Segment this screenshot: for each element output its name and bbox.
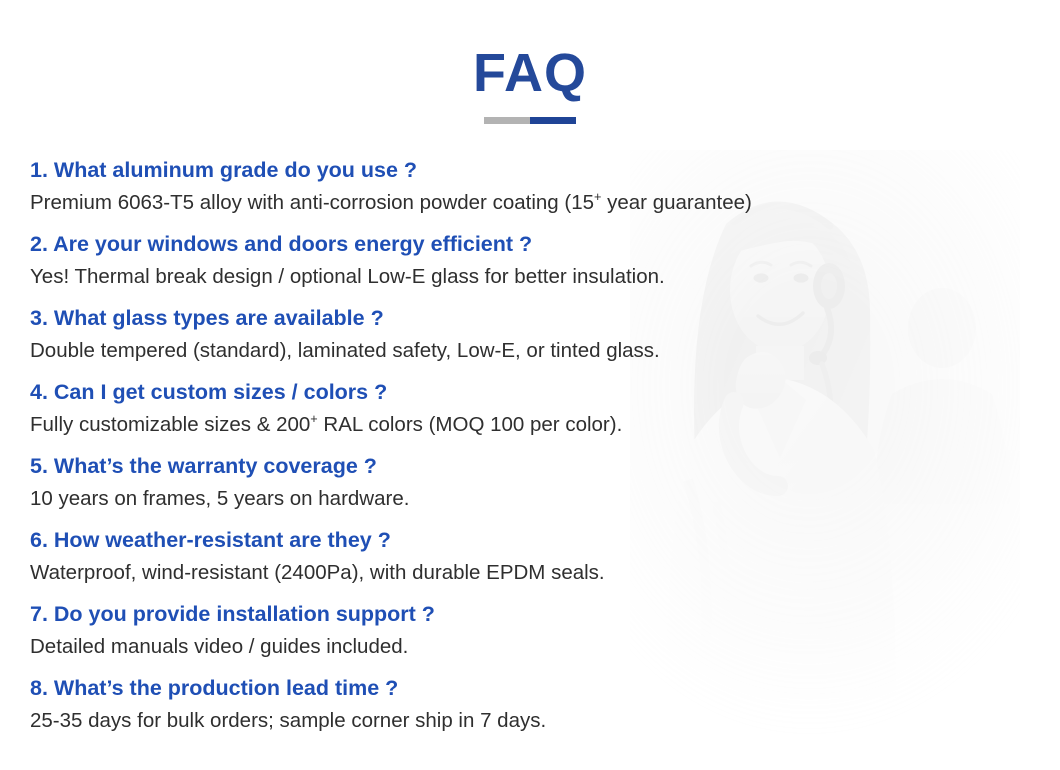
faq-question: 2. Are your windows and doors energy eff… (30, 234, 990, 267)
faq-answer: 25-35 days for bulk orders; sample corne… (30, 711, 990, 753)
faq-answer-text: Detailed manuals video / guides included… (30, 635, 408, 658)
faq-question: 7. Do you provide installation support ? (30, 604, 990, 637)
faq-header: FAQ (0, 46, 1060, 124)
faq-answer-text-tail: RAL colors (MOQ 100 per color). (318, 413, 623, 436)
faq-item: 8. What’s the production lead time ? 25-… (30, 678, 990, 752)
title-divider-left-segment (484, 117, 530, 124)
faq-answer-text: 25-35 days for bulk orders; sample corne… (30, 709, 546, 732)
faq-item: 2. Are your windows and doors energy eff… (30, 234, 990, 308)
faq-item: 5. What’s the warranty coverage ? 10 yea… (30, 456, 990, 530)
faq-answer: 10 years on frames, 5 years on hardware. (30, 489, 990, 531)
faq-list: 1. What aluminum grade do you use ? Prem… (30, 160, 990, 752)
faq-answer: Yes! Thermal break design / optional Low… (30, 267, 990, 309)
faq-answer: Premium 6063-T5 alloy with anti-corrosio… (30, 193, 990, 235)
superscript-plus: + (310, 411, 317, 426)
faq-item: 7. Do you provide installation support ?… (30, 604, 990, 678)
faq-question: 8. What’s the production lead time ? (30, 678, 990, 711)
faq-answer: Detailed manuals video / guides included… (30, 637, 990, 679)
faq-answer: Waterproof, wind-resistant (2400Pa), wit… (30, 563, 990, 605)
faq-question: 1. What aluminum grade do you use ? (30, 160, 990, 193)
page-title: FAQ (0, 46, 1060, 100)
faq-page: FAQ 1. What aluminum grade do you use ? … (0, 0, 1060, 770)
faq-answer-text-tail: year guarantee) (601, 191, 751, 214)
faq-answer-text: Fully customizable sizes & 200 (30, 413, 310, 436)
faq-item: 4. Can I get custom sizes / colors ? Ful… (30, 382, 990, 456)
faq-item: 6. How weather-resistant are they ? Wate… (30, 530, 990, 604)
faq-item: 3. What glass types are available ? Doub… (30, 308, 990, 382)
title-divider (484, 117, 576, 124)
faq-question: 4. Can I get custom sizes / colors ? (30, 382, 990, 415)
faq-question: 5. What’s the warranty coverage ? (30, 456, 990, 489)
faq-answer-text: Waterproof, wind-resistant (2400Pa), wit… (30, 561, 605, 584)
faq-answer-text: Premium 6063-T5 alloy with anti-corrosio… (30, 191, 594, 214)
faq-question: 3. What glass types are available ? (30, 308, 990, 341)
faq-answer-text: 10 years on frames, 5 years on hardware. (30, 487, 409, 510)
faq-question: 6. How weather-resistant are they ? (30, 530, 990, 563)
faq-answer-text: Yes! Thermal break design / optional Low… (30, 265, 665, 288)
faq-answer: Fully customizable sizes & 200+ RAL colo… (30, 415, 990, 457)
faq-item: 1. What aluminum grade do you use ? Prem… (30, 160, 990, 234)
faq-answer-text: Double tempered (standard), laminated sa… (30, 339, 660, 362)
title-divider-right-segment (530, 117, 576, 124)
faq-answer: Double tempered (standard), laminated sa… (30, 341, 990, 383)
